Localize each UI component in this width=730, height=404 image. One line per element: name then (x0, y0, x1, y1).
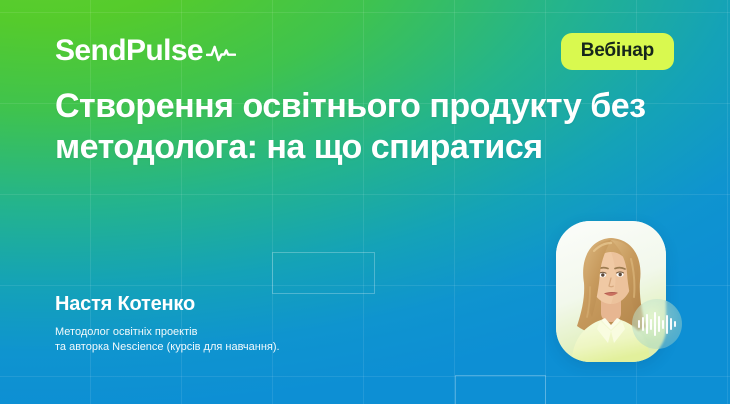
speaker-info: Настя Котенко Методолог освітніх проекті… (55, 293, 280, 356)
audio-waveform-icon (632, 299, 682, 349)
sendpulse-logo[interactable]: SendPulse (55, 36, 236, 66)
pulse-icon (206, 41, 236, 65)
webinar-banner: SendPulse Вебінар Створення освітнього п… (0, 0, 730, 404)
grid-cell-highlight-middle (272, 252, 375, 294)
grid-cell-highlight-bottom (455, 375, 546, 404)
page-title: Створення освітнього продукту без методо… (55, 86, 655, 169)
speaker-portrait (556, 221, 666, 362)
speaker-name: Настя Котенко (55, 293, 280, 316)
status-badge: Вебінар (561, 33, 674, 70)
speaker-role: Методолог освітніх проектів та авторка N… (55, 325, 280, 356)
speaker-role-line-2: та авторка Nescience (курсів для навчанн… (55, 340, 280, 356)
logo-wordmark: SendPulse (55, 36, 203, 66)
speaker-role-line-1: Методолог освітніх проектів (55, 325, 280, 341)
